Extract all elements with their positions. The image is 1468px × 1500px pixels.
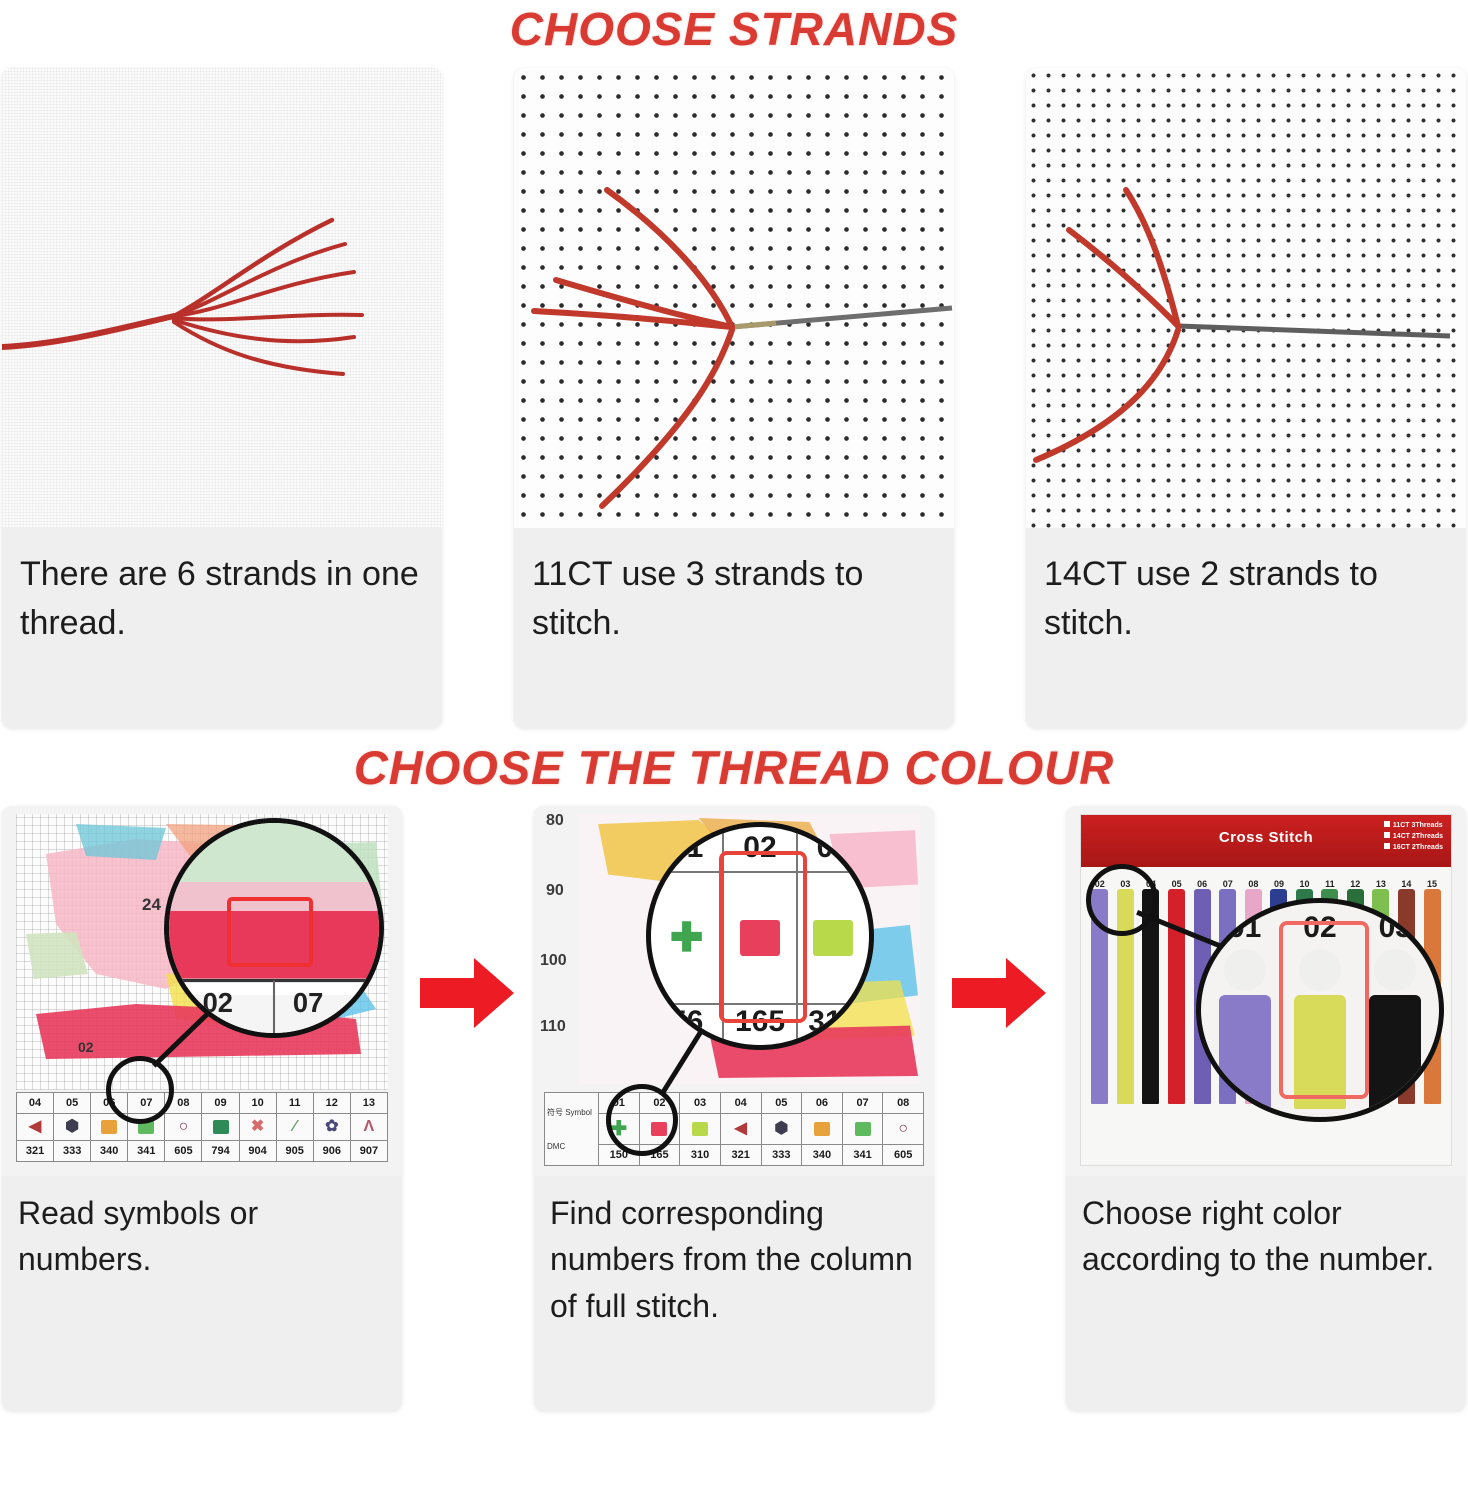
thread-card-image: Cross Stitch 11CT 3Threads 14CT 2Threads… (1066, 806, 1466, 1176)
magnifier-lens: 01 02 03 (1196, 898, 1444, 1122)
arrow-1-wrapper (413, 806, 523, 1411)
legend-symbol-triangle-icon: ◀ (721, 1113, 761, 1145)
strands-caption-1: There are 6 strands in one thread. (2, 528, 442, 728)
colour-card-1: 24 02 04 ◀ 321 05 ⬢ 333 (2, 806, 402, 1411)
legend-column: 04 ◀ 321 (721, 1093, 762, 1165)
colour-caption-3: Choose right color according to the numb… (1066, 1176, 1466, 1411)
axis-label-110: 110 (540, 1018, 566, 1036)
legend-column: 05 ⬢ 333 (762, 1093, 803, 1165)
legend-symbol-square-icon (802, 1113, 842, 1145)
axis-label-90: 90 (546, 882, 564, 900)
magnifier-code-left: 02 (203, 987, 233, 1018)
legend-number: 11 (277, 1093, 313, 1113)
skein-number: 13 (1376, 879, 1386, 889)
axis-label-100: 100 (540, 952, 567, 970)
strands-caption-2: 11CT use 3 strands to stitch. (514, 528, 954, 728)
legend-column: 12 ✿ 906 (314, 1093, 351, 1161)
skein-number: 09 (1274, 879, 1284, 889)
legend-dmc: 310 (680, 1145, 720, 1165)
legend-dmc: 907 (351, 1141, 387, 1161)
thread-hole-icon (1374, 949, 1416, 991)
legend-symbol-hexagon-icon: ⬢ (54, 1113, 90, 1141)
thread-skein (1168, 889, 1185, 1104)
needle-icon (1178, 326, 1450, 336)
legend-dmc: 333 (762, 1145, 802, 1165)
legend-column: 07 341 (843, 1093, 884, 1165)
thread-hole-icon (1224, 949, 1266, 991)
colour-card-3: Cross Stitch 11CT 3Threads 14CT 2Threads… (1066, 806, 1466, 1411)
legend-symbol-slash-icon: ∕ (277, 1113, 313, 1141)
legend-dmc: 321 (17, 1141, 53, 1161)
magnifier-lens: 01 ✚ 56 02 165 03 310 (646, 822, 874, 1050)
aida-14ct-fabric-image (1026, 68, 1466, 528)
legend-column: 04 ◀ 321 (17, 1093, 54, 1161)
thread-card-option: 16CT 2Threads (1384, 843, 1443, 854)
legend-dmc: 794 (202, 1141, 238, 1161)
legend-number: 03 (680, 1093, 720, 1113)
legend-dmc: 904 (240, 1141, 276, 1161)
skein-number: 14 (1401, 879, 1411, 889)
thread-card-option: 14CT 2Threads (1384, 832, 1443, 843)
two-strand-needle-illustration (1026, 68, 1466, 528)
chart-colour-code: 02 (78, 1039, 94, 1055)
legend-dmc: 341 (128, 1141, 164, 1161)
pattern-chart-image: 24 02 04 ◀ 321 05 ⬢ 333 (2, 806, 402, 1176)
six-strand-thread-illustration (2, 68, 442, 528)
legend-symbol-circle-icon: ○ (883, 1113, 923, 1145)
section-title-choose-thread-colour: CHOOSE THE THREAD COLOUR (0, 738, 1468, 806)
legend-symbol-square-icon (843, 1113, 883, 1145)
thread-colour-card-row: 24 02 04 ◀ 321 05 ⬢ 333 (0, 806, 1468, 1418)
thread-card-option-label: 14CT 2Threads (1393, 833, 1443, 840)
legend-column: 05 ⬢ 333 (54, 1093, 91, 1161)
legend-symbol-circle-icon: ○ (165, 1113, 201, 1141)
chart-cell-number: 24 (142, 895, 161, 914)
legend-number: 05 (762, 1093, 802, 1113)
legend-dmc: 906 (314, 1141, 350, 1161)
pattern-chart-zoom-image: 80 90 100 110 符号 Symbol DMC 01 ✚ 150 (534, 806, 934, 1176)
legend-dmc: 341 (843, 1145, 883, 1165)
legend-row-label-symbol: 符号 Symbol (547, 1107, 596, 1118)
legend-dmc: 333 (54, 1141, 90, 1161)
skein-number: 06 (1197, 879, 1207, 889)
legend-column: 08 ○ 605 (883, 1093, 923, 1165)
skein-number: 10 (1300, 879, 1310, 889)
magnifier-source-circle (106, 1056, 174, 1124)
legend-symbol-caret-icon: Λ (351, 1113, 387, 1141)
legend-number: 04 (721, 1093, 761, 1113)
magnifier-source-circle (1086, 864, 1158, 936)
legend-dmc: 605 (165, 1141, 201, 1161)
legend-symbol-triangle-icon: ◀ (17, 1113, 53, 1141)
legend-dmc: 340 (91, 1141, 127, 1161)
legend-column: 03 310 (680, 1093, 721, 1165)
skein-number: 05 (1172, 879, 1182, 889)
legend-number: 13 (351, 1093, 387, 1113)
colour-caption-1: Read symbols or numbers. (2, 1176, 402, 1411)
legend-dmc: 905 (277, 1141, 313, 1161)
axis-label-80: 80 (546, 812, 564, 830)
skein-number: 07 (1223, 879, 1233, 889)
legend-column: 06 340 (802, 1093, 843, 1165)
legend-symbol-leaf-icon: ✿ (314, 1113, 350, 1141)
three-strand-needle-illustration (514, 68, 954, 528)
legend-number: 05 (54, 1093, 90, 1113)
magnifier-source-circle (606, 1084, 678, 1156)
magnifier-symbol-square-icon (798, 871, 869, 1005)
magnifier-code-right: 07 (293, 987, 323, 1018)
thread-card-options: 11CT 3Threads 14CT 2Threads 16CT 2Thread… (1384, 821, 1443, 854)
thread-card-header: Cross Stitch 11CT 3Threads 14CT 2Threads… (1081, 815, 1451, 867)
skein-number: 12 (1350, 879, 1360, 889)
colour-caption-2: Find corresponding numbers from the colu… (534, 1176, 934, 1411)
strands-card-row: There are 6 strands in one thread. 11CT … (0, 68, 1468, 738)
chart-legend-table: 04 ◀ 321 05 ⬢ 333 06 340 (16, 1092, 388, 1162)
legend-number: 09 (202, 1093, 238, 1113)
section-title-choose-strands: CHOOSE STRANDS (0, 0, 1468, 66)
legend-number: 07 (843, 1093, 883, 1113)
magnifier-symbol-plus-icon: ✚ (651, 871, 722, 1005)
strands-card-2: 11CT use 3 strands to stitch. (514, 68, 954, 728)
arrow-2-wrapper (945, 806, 1055, 1411)
right-arrow-icon (420, 956, 516, 1030)
skein-number: 11 (1325, 879, 1335, 889)
strands-card-3: 14CT use 2 strands to stitch. (1026, 68, 1466, 728)
legend-dmc: 605 (883, 1145, 923, 1165)
legend-number: 06 (802, 1093, 842, 1113)
strands-caption-3: 14CT use 2 strands to stitch. (1026, 528, 1466, 728)
legend-dmc: 321 (721, 1145, 761, 1165)
legend-dmc: 340 (802, 1145, 842, 1165)
legend-symbol-hexagon-icon: ⬢ (762, 1113, 802, 1145)
magnifier-lens: 02 07 (164, 818, 384, 1038)
legend-number: 10 (240, 1093, 276, 1113)
legend-symbol-cross-icon: ✖ (240, 1113, 276, 1141)
legend-row-labels: 符号 Symbol DMC (545, 1093, 599, 1165)
right-arrow-icon (952, 956, 1048, 1030)
legend-column: 13 Λ 907 (351, 1093, 387, 1161)
thread-card-option: 11CT 3Threads (1384, 821, 1443, 832)
colour-card-2: 80 90 100 110 符号 Symbol DMC 01 ✚ 150 (534, 806, 934, 1411)
legend-number: 08 (883, 1093, 923, 1113)
skein-number: 08 (1248, 879, 1258, 889)
legend-number: 04 (17, 1093, 53, 1113)
aida-11ct-fabric-image (514, 68, 954, 528)
strands-card-1: There are 6 strands in one thread. (2, 68, 442, 728)
legend-column: 09 794 (202, 1093, 239, 1161)
magnifier-highlight-box (719, 851, 807, 1023)
legend-column: 10 ✖ 904 (240, 1093, 277, 1161)
legend-number: 12 (314, 1093, 350, 1113)
thread-card-option-label: 16CT 2Threads (1393, 844, 1443, 851)
plain-fabric-image (2, 68, 442, 528)
legend-symbol-square-icon (202, 1113, 238, 1141)
legend-symbol-square-icon (680, 1113, 720, 1145)
magnifier-highlight-box (1279, 921, 1369, 1099)
thread-card-option-label: 11CT 3Threads (1393, 822, 1443, 829)
chart-legend-table-zoom: 符号 Symbol DMC 01 ✚ 150 02 165 03 (544, 1092, 924, 1166)
legend-row-label-dmc: DMC (547, 1142, 596, 1151)
skein-number: 15 (1427, 879, 1437, 889)
legend-column: 11 ∕ 905 (277, 1093, 314, 1161)
